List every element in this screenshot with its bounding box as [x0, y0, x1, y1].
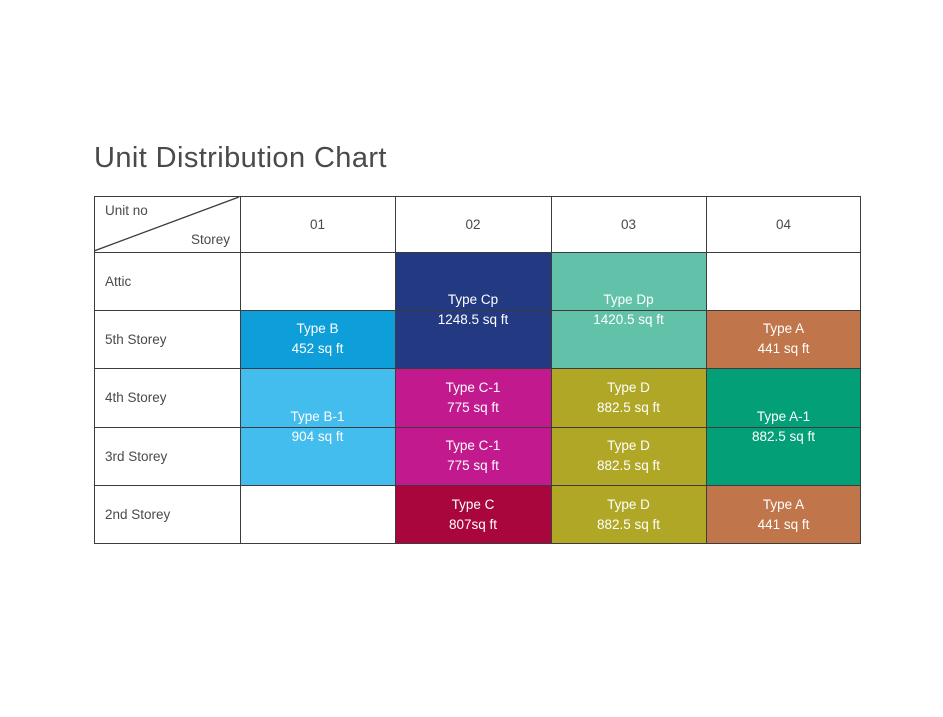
column-header-02: 02 [395, 196, 551, 252]
unit-area-label: 775 sq ft [447, 456, 499, 476]
unit-area-label: 882.5 sq ft [597, 515, 660, 535]
row-header-2nd-storey: 2nd Storey [94, 485, 240, 544]
unit-type-label: Type C-1 [446, 436, 501, 456]
unit-block-type-b[interactable]: Type B 452 sq ft [240, 310, 395, 368]
unit-area-label: 904 sq ft [292, 427, 344, 447]
column-header-01: 01 [240, 196, 395, 252]
unit-block-type-c[interactable]: Type C 807sq ft [395, 485, 551, 544]
unit-area-label: 775 sq ft [447, 398, 499, 418]
unit-area-label: 882.5 sq ft [752, 427, 815, 447]
unit-distribution-page: Unit Distribution Chart Type B 452 sq ft… [0, 0, 943, 717]
unit-area-label: 807sq ft [449, 515, 497, 535]
row-header-attic: Attic [94, 252, 240, 310]
unit-type-label: Type A [763, 319, 804, 339]
unit-area-label: 882.5 sq ft [597, 398, 660, 418]
page-title: Unit Distribution Chart [94, 142, 387, 175]
unit-area-label: 1420.5 sq ft [593, 310, 664, 330]
storey-header-label: Storey [191, 232, 230, 247]
row-header-4th-storey: 4th Storey [94, 368, 240, 427]
unit-block-type-d-4th[interactable]: Type D 882.5 sq ft [551, 368, 706, 427]
unit-distribution-table: Type B 452 sq ft Type B-1 904 sq ft Type… [94, 196, 861, 544]
unit-block-type-c-1-3rd[interactable]: Type C-1 775 sq ft [395, 427, 551, 485]
unit-block-type-a-5th[interactable]: Type A 441 sq ft [706, 310, 861, 368]
unit-area-label: 441 sq ft [758, 515, 810, 535]
unit-type-label: Type C [452, 495, 495, 515]
unit-type-label: Type Dp [603, 290, 653, 310]
unit-type-label: Type A-1 [757, 407, 810, 427]
unit-area-label: 441 sq ft [758, 339, 810, 359]
column-header-03: 03 [551, 196, 706, 252]
unit-type-label: Type C-1 [446, 378, 501, 398]
corner-header-cell: Unit no Storey [94, 196, 240, 252]
unit-area-label: 452 sq ft [292, 339, 344, 359]
unit-type-label: Type D [607, 495, 650, 515]
unit-type-label: Type D [607, 378, 650, 398]
row-header-5th-storey: 5th Storey [94, 310, 240, 368]
column-header-04: 04 [706, 196, 861, 252]
unit-no-header-label: Unit no [105, 203, 148, 218]
unit-type-label: Type D [607, 436, 650, 456]
unit-block-type-c-1-4th[interactable]: Type C-1 775 sq ft [395, 368, 551, 427]
unit-block-type-a-2nd[interactable]: Type A 441 sq ft [706, 485, 861, 544]
unit-block-type-d-2nd[interactable]: Type D 882.5 sq ft [551, 485, 706, 544]
row-header-3rd-storey: 3rd Storey [94, 427, 240, 485]
unit-type-label: Type A [763, 495, 804, 515]
unit-type-label: Type B-1 [290, 407, 344, 427]
unit-type-label: Type Cp [448, 290, 498, 310]
unit-type-label: Type B [296, 319, 338, 339]
unit-area-label: 1248.5 sq ft [438, 310, 509, 330]
unit-area-label: 882.5 sq ft [597, 456, 660, 476]
unit-block-type-d-3rd[interactable]: Type D 882.5 sq ft [551, 427, 706, 485]
